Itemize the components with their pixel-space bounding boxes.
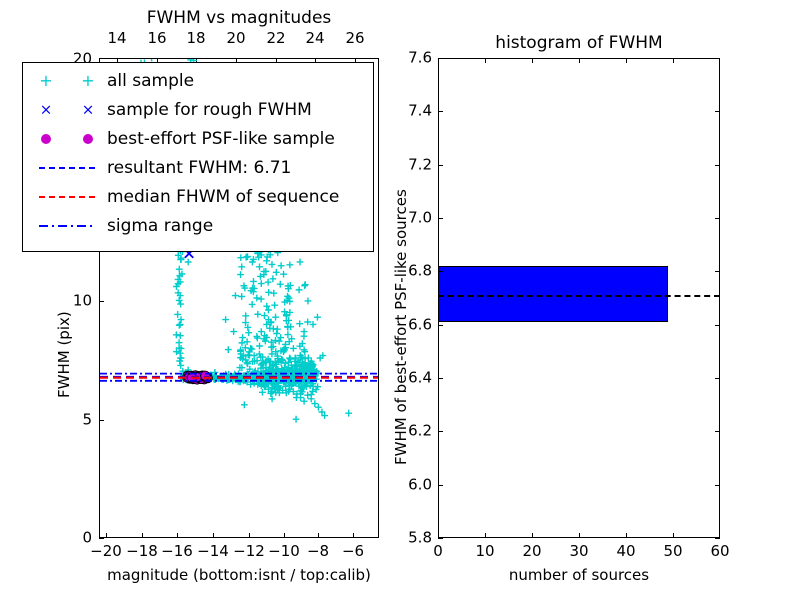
- right-x-tick: [485, 533, 486, 538]
- legend-item-median-fwhm[interactable]: median FHWM of sequence: [29, 182, 367, 211]
- right-y-axis-label: FWHM of best-effort PSF-like sources: [392, 189, 410, 465]
- plus-icon: +: [39, 73, 52, 89]
- legend-handle-median-fwhm: [29, 182, 107, 211]
- right-x-tick: [532, 533, 533, 538]
- legend-handle-resultant-fwhm: [29, 153, 107, 182]
- right-y-tick: [438, 485, 443, 486]
- right-x-tick-label: 10: [475, 544, 494, 559]
- right-x-tick-label: 30: [569, 544, 588, 559]
- right-y-tick: [438, 431, 443, 432]
- right-x-tick-mirror: [532, 58, 533, 63]
- right-y-tick: [438, 111, 443, 112]
- right-y-tick-mirror: [715, 165, 720, 166]
- right-y-tick-mirror: [715, 218, 720, 219]
- cross-icon: ×: [82, 102, 95, 117]
- right-x-tick-mirror: [485, 58, 486, 63]
- right-y-tick: [438, 165, 443, 166]
- dashdot-line-icon: [29, 211, 107, 240]
- figure-canvas: FWHM vs magnitudes 14 16 18 20 22 24 26 …: [0, 0, 800, 600]
- right-y-tick-mirror: [715, 325, 720, 326]
- right-x-tick-mirror: [626, 58, 627, 63]
- right-x-tick-label: 60: [710, 544, 729, 559]
- right-y-tick-mirror: [715, 58, 720, 59]
- right-y-tick-label: 7.4: [396, 104, 432, 119]
- legend-item-sigma-range[interactable]: sigma range: [29, 211, 367, 240]
- legend-handle-sigma-range: [29, 211, 107, 240]
- right-y-tick-mirror: [715, 378, 720, 379]
- right-x-tick: [719, 533, 720, 538]
- right-y-tick-label: 7.2: [396, 158, 432, 173]
- right-x-tick-label: 20: [522, 544, 541, 559]
- dashed-line-icon: [39, 167, 95, 169]
- right-x-tick: [579, 533, 580, 538]
- legend-label: resultant FWHM: 6.71: [107, 158, 291, 178]
- legend-handle-rough-fwhm: × ×: [29, 95, 107, 124]
- right-x-tick-label: 0: [433, 544, 443, 559]
- plot-legend: + + all sample × × sample for rough FWHM…: [22, 62, 374, 252]
- right-y-tick-label: 6.0: [396, 478, 432, 493]
- circle-marker-icon: [41, 134, 51, 144]
- legend-item-rough-fwhm[interactable]: × × sample for rough FWHM: [29, 95, 367, 124]
- histogram-bar[interactable]: [438, 266, 668, 322]
- right-x-tick-mirror: [579, 58, 580, 63]
- circle-marker-icon: [83, 134, 93, 144]
- right-y-tick-mirror: [715, 485, 720, 486]
- right-y-tick-label: 7.6: [396, 51, 432, 66]
- legend-handle-all-sample: + +: [29, 66, 107, 95]
- right-y-tick-mirror: [715, 111, 720, 112]
- right-x-axis-label: number of sources: [509, 566, 649, 584]
- legend-item-resultant-fwhm[interactable]: resultant FWHM: 6.71: [29, 153, 367, 182]
- right-x-tick: [626, 533, 627, 538]
- right-x-tick-label: 50: [663, 544, 682, 559]
- right-y-tick: [438, 325, 443, 326]
- right-y-tick-label: 5.8: [396, 531, 432, 546]
- legend-label: median FHWM of sequence: [107, 187, 339, 207]
- legend-label: all sample: [107, 71, 194, 91]
- plus-icon: +: [81, 73, 94, 89]
- cross-icon: ×: [40, 102, 53, 117]
- right-panel-title: histogram of FWHM: [495, 33, 662, 53]
- right-y-tick: [438, 218, 443, 219]
- right-y-tick-mirror: [715, 431, 720, 432]
- legend-label: sigma range: [107, 216, 213, 236]
- right-x-tick: [673, 533, 674, 538]
- legend-label: sample for rough FWHM: [107, 100, 312, 120]
- right-y-tick: [438, 538, 443, 539]
- right-x-tick: [438, 533, 439, 538]
- right-y-tick: [438, 378, 443, 379]
- right-y-tick-mirror: [715, 271, 720, 272]
- right-x-tick-label: 40: [616, 544, 635, 559]
- right-y-tick: [438, 271, 443, 272]
- right-y-tick: [438, 58, 443, 59]
- legend-item-psf-like[interactable]: best-effort PSF-like sample: [29, 124, 367, 153]
- right-x-tick-mirror: [673, 58, 674, 63]
- dashed-line-icon: [39, 196, 95, 198]
- legend-handle-psf-like: [29, 124, 107, 153]
- legend-item-all-sample[interactable]: + + all sample: [29, 66, 367, 95]
- legend-label: best-effort PSF-like sample: [107, 129, 335, 149]
- histogram-median-line: [438, 295, 720, 297]
- right-y-tick-mirror: [715, 538, 720, 539]
